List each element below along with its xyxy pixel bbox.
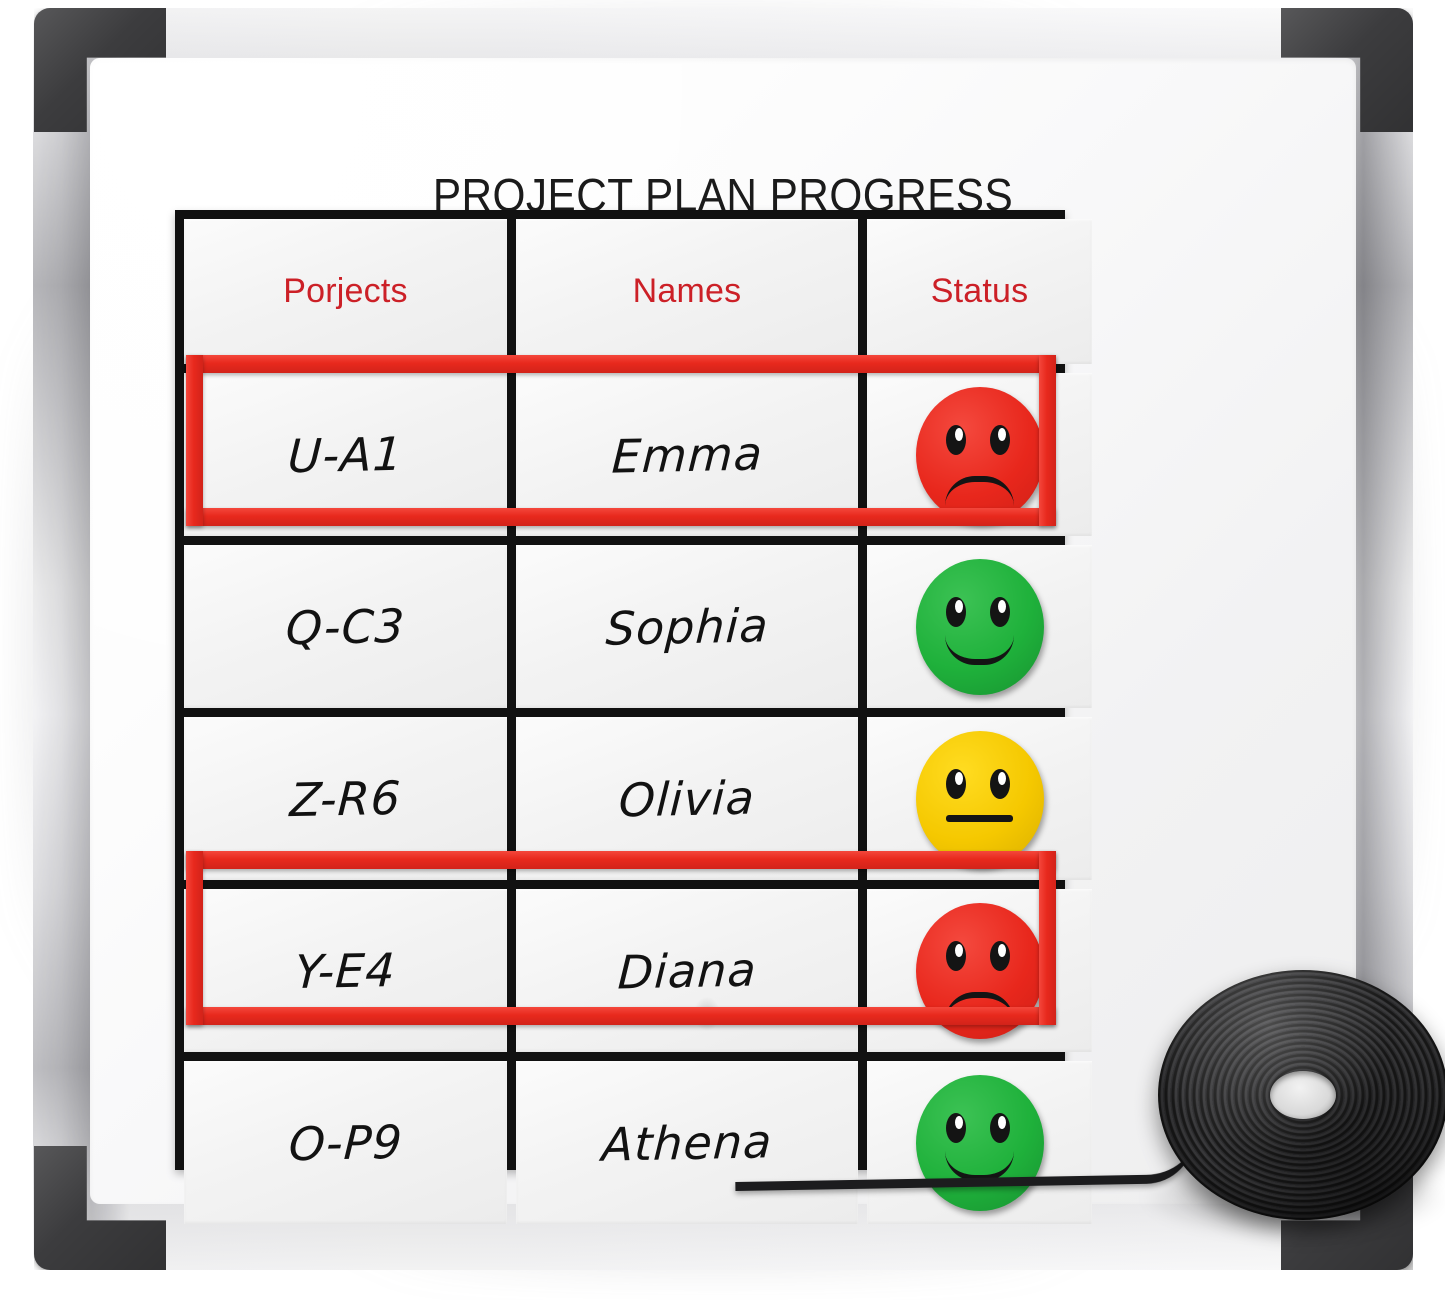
project-status-table: Porjects Names Status U-A1 Emma Q-C3 [175,210,1065,1170]
tape-roll-center-hole [1270,1071,1336,1119]
table-row: Q-C3 [184,545,507,708]
eye-left-icon [946,769,966,799]
highlight-strip-top-row1[interactable] [186,355,1056,373]
cell-name: Olivia [618,770,757,827]
mouth-flat-icon [946,815,1013,822]
eye-right-icon [990,941,1010,971]
column-header-projects: Porjects [184,219,507,364]
cell-project: Z-R6 [289,770,403,826]
highlight-strip-right-row1[interactable] [1039,355,1056,526]
whiteboard-scene: PROJECT PLAN PROGRESS Porjects Names Sta… [0,0,1445,1300]
eye-left-icon [946,597,966,627]
table-row: Sophia [516,545,858,708]
highlight-strip-left-row1[interactable] [186,355,203,526]
highlight-strip-top-row4[interactable] [186,851,1056,869]
cell-project: O-P9 [287,1114,404,1170]
highlight-strip-left-row4[interactable] [186,851,203,1025]
table-row: Diana [516,889,858,1052]
table-row: O-P9 [184,1061,507,1224]
happy-face-icon [916,559,1044,695]
table-row: Y-E4 [184,889,507,1052]
table-grid: Porjects Names Status U-A1 Emma Q-C3 [175,210,1065,1170]
eye-right-icon [990,425,1010,455]
magnetic-tape-roll[interactable] [1158,970,1445,1220]
cell-name: Sophia [604,598,770,655]
eye-left-icon [946,425,966,455]
highlight-strip-right-row4[interactable] [1039,851,1056,1025]
highlight-strip-bottom-row4[interactable] [186,1007,1056,1025]
neutral-face-icon [916,731,1044,867]
highlight-strip-bottom-row1[interactable] [186,508,1056,526]
cell-project: Y-E4 [294,942,397,998]
sad-face-icon [916,387,1044,523]
cell-project: Q-C3 [285,598,407,654]
magnetic-tape-tail [735,1134,1196,1191]
cell-name: Diana [616,942,758,999]
cell-project: U-A1 [287,426,405,482]
eye-right-icon [990,597,1010,627]
cell-name: Emma [610,426,764,483]
table-row [867,545,1092,708]
column-header-status: Status [867,219,1092,364]
mouth-frown-icon [945,476,1014,506]
mouth-smile-icon [945,635,1014,665]
column-header-names: Names [516,219,858,364]
eye-right-icon [990,769,1010,799]
table-row [867,889,1092,1052]
eye-left-icon [946,941,966,971]
